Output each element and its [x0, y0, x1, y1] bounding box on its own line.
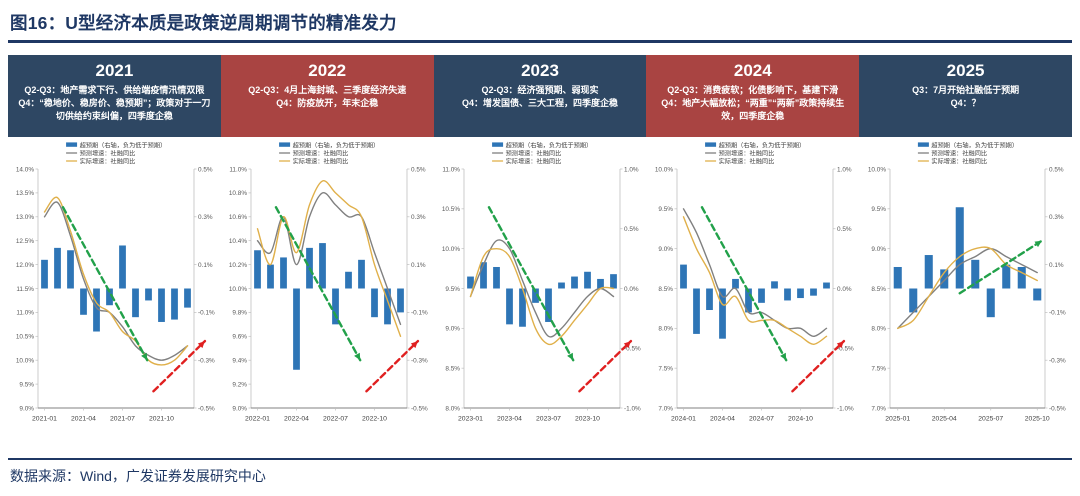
x-axis-label: 2021-01 [32, 416, 57, 423]
bar [584, 272, 591, 289]
y-axis-label: 10.8% [229, 190, 247, 197]
y-axis-label: 13.0% [16, 214, 34, 221]
bar [558, 283, 565, 289]
bar [145, 289, 152, 301]
year-panel-2021: 2021 Q2-Q3：地产需求下行、供给端疫情汛情双限 Q4：“稳地价、稳房价、… [8, 55, 221, 137]
chart-2023: 超预期（右轴，负为低于预期）预测增速：社融同比实际增速：社融同比11.0%10.… [434, 139, 647, 444]
forecast-line [684, 209, 827, 336]
trend-arrow-up [792, 341, 843, 391]
chart-2021: 超预期（右轴，负为低于预期）预测增速：社融同比实际增速：社融同比14.0%13.… [8, 139, 221, 444]
y-axis-label: 9.2% [232, 381, 247, 388]
year-note-2: Q4：防疫放开，年末企稳 [227, 97, 428, 110]
y2-axis-label: -0.5% [198, 405, 215, 412]
legend-label: 预测增速：社融同比 [293, 149, 349, 157]
bar [41, 260, 48, 289]
y-axis-label: 9.0% [871, 246, 886, 253]
y-axis-label: 10.0% [229, 286, 247, 293]
bar [345, 272, 352, 289]
y-axis-label: 10.5% [442, 206, 460, 213]
y-axis-label: 8.5% [445, 365, 460, 372]
legend-label: 超预期（右轴，负为低于预期） [719, 141, 806, 149]
legend-label: 超预期（右轴，负为低于预期） [506, 141, 593, 149]
y-axis-label: 9.0% [232, 405, 247, 412]
actual-line [684, 217, 827, 344]
trend-arrow-down-head [780, 353, 786, 361]
y2-axis-label: -0.3% [411, 358, 428, 365]
year-panel-2025: 2025 Q3：7月开始社融低于预期 Q4：？ [859, 55, 1072, 137]
bar [925, 255, 933, 288]
chart-2022: 超预期（右轴，负为低于预期）预测增速：社融同比实际增速：社融同比11.0%10.… [221, 139, 434, 444]
y2-axis-label: 0.3% [198, 214, 213, 221]
y-axis-label: 11.5% [16, 286, 34, 293]
x-axis-label: 2022-10 [362, 416, 387, 423]
y2-axis-label: -0.1% [198, 310, 215, 317]
y2-axis-label: -1.0% [837, 405, 854, 412]
bar [823, 283, 830, 289]
bar [119, 245, 126, 288]
legend-label: 超预期（右轴，负为低于预期） [80, 141, 167, 149]
trend-arrow-down [63, 207, 147, 360]
bar [358, 260, 365, 289]
y-axis-label: 10.4% [229, 238, 247, 245]
legend-label: 实际增速：社融同比 [719, 157, 775, 165]
x-axis-label: 2021-04 [71, 416, 96, 423]
forecast-line [471, 240, 614, 337]
y-axis-label: 9.5% [19, 381, 34, 388]
year-note-1: Q2-Q3：经济强预期、弱现实 [440, 84, 641, 97]
chart-row: 超预期（右轴，负为低于预期）预测增速：社融同比实际增速：社融同比14.0%13.… [8, 139, 1072, 444]
actual-line [471, 249, 614, 345]
bar [1033, 289, 1041, 301]
y2-axis-label: 0.1% [411, 262, 426, 269]
y-axis-label: 8.0% [871, 326, 886, 333]
x-axis-label: 2025-04 [932, 416, 957, 423]
year-panel-2024: 2024 Q2-Q3：消费疲软；化债影响下，基建下滑 Q4：地产大幅放松；“两重… [646, 55, 859, 137]
y2-axis-label: 0.3% [1049, 214, 1064, 221]
actual-line [258, 181, 401, 337]
legend-label: 超预期（右轴，负为低于预期） [931, 141, 1018, 149]
year-note-1: Q2-Q3：4月上海封城、三季度经济失速 [227, 84, 428, 97]
bar [54, 248, 61, 289]
y-axis-label: 10.2% [229, 262, 247, 269]
legend-label: 预测增速：社融同比 [719, 149, 775, 157]
y2-axis-label: -0.3% [198, 358, 215, 365]
year-note-1: Q3：7月开始社融低于预期 [865, 84, 1066, 97]
x-axis-label: 2025-07 [978, 416, 1003, 423]
bar [706, 289, 713, 311]
year-label: 2024 [734, 60, 772, 82]
x-axis-label: 2023-07 [536, 416, 561, 423]
legend-label: 预测增速：社融同比 [506, 149, 562, 157]
x-axis-label: 2022-04 [284, 416, 309, 423]
bar [319, 243, 326, 288]
year-note-1: Q2-Q3：地产需求下行、供给端疫情汛情双限 [14, 84, 215, 97]
y2-axis-label: 0.3% [411, 214, 426, 221]
x-axis-label: 2021-07 [110, 416, 135, 423]
year-label: 2021 [95, 60, 133, 82]
bar [80, 289, 87, 315]
trend-arrow-up [366, 341, 417, 391]
y-axis-label: 7.5% [871, 365, 886, 372]
chart-2025: 超预期（右轴，负为低于预期）预测增速：社融同比实际增速：社融同比10.0%9.5… [860, 139, 1072, 444]
y2-axis-label: 0.0% [837, 286, 852, 293]
y-axis-label: 10.0% [16, 358, 34, 365]
y-axis-label: 9.0% [445, 326, 460, 333]
bar [894, 267, 902, 289]
bar [254, 250, 261, 288]
y-axis-label: 12.0% [16, 262, 34, 269]
y2-axis-label: 0.5% [624, 226, 639, 233]
y2-axis-label: 0.0% [624, 286, 639, 293]
bar [571, 277, 578, 289]
y-axis-label: 9.4% [232, 358, 247, 365]
bar [132, 289, 139, 318]
x-axis-label: 2025-01 [885, 416, 910, 423]
x-axis-label: 2025-10 [1025, 416, 1050, 423]
bar [267, 265, 274, 289]
legend-label: 超预期（右轴，负为低于预期） [293, 141, 380, 149]
y2-axis-label: 0.5% [411, 166, 426, 173]
bar [784, 289, 791, 301]
x-axis-label: 2024-07 [749, 416, 774, 423]
title-divider [8, 40, 1072, 43]
chart-2024: 超预期（右轴，负为低于预期）预测增速：社融同比实际增速：社融同比10.0%9.5… [647, 139, 860, 444]
data-source: 数据来源：Wind，广发证券发展研究中心 [10, 466, 266, 486]
bar [810, 289, 817, 296]
footer-divider [8, 458, 1072, 460]
y-axis-label: 7.0% [658, 405, 673, 412]
trend-arrow-up [579, 341, 630, 391]
bar [493, 267, 500, 289]
y2-axis-label: 0.5% [837, 226, 852, 233]
year-label: 2025 [947, 60, 985, 82]
year-note-2: Q4：地产大幅放松；“两重”“两新”政策持续生效，四季度企稳 [652, 97, 853, 123]
trend-arrow-down-head [354, 353, 360, 361]
y2-axis-label: -0.5% [1049, 405, 1066, 412]
y-axis-label: 9.8% [232, 310, 247, 317]
x-axis-label: 2022-07 [323, 416, 348, 423]
y-axis-label: 10.0% [868, 166, 886, 173]
y-axis-label: 9.0% [658, 246, 673, 253]
figure-title-bar: 图16：U型经济本质是政策逆周期调节的精准发力 [0, 0, 1080, 44]
bar [397, 289, 404, 313]
y2-axis-label: 1.0% [837, 166, 852, 173]
x-axis-label: 2021-10 [149, 416, 174, 423]
bar [1018, 267, 1026, 289]
bar [67, 250, 74, 288]
y-axis-label: 11.0% [442, 166, 460, 173]
bar [371, 289, 378, 318]
y2-axis-label: 0.5% [198, 166, 213, 173]
y-axis-label: 7.5% [658, 365, 673, 372]
year-note-2: Q4：增发国债、三大工程，四季度企稳 [440, 97, 641, 110]
y-axis-label: 10.0% [442, 246, 460, 253]
y2-axis-label: -0.5% [411, 405, 428, 412]
legend-swatch-bar [279, 142, 290, 146]
legend-label: 实际增速：社融同比 [293, 157, 349, 165]
bar [506, 289, 513, 325]
x-axis-label: 2024-01 [671, 416, 696, 423]
bar [797, 289, 804, 299]
y-axis-label: 10.5% [16, 334, 34, 341]
y-axis-label: 13.5% [16, 190, 34, 197]
legend-label: 实际增速：社融同比 [506, 157, 562, 165]
trend-arrow-down-head [567, 353, 573, 361]
x-axis-label: 2023-01 [458, 416, 483, 423]
y-axis-label: 9.5% [658, 206, 673, 213]
y-axis-label: 8.0% [445, 405, 460, 412]
bar [610, 274, 617, 288]
bar [293, 289, 300, 370]
legend-swatch-bar [492, 142, 503, 146]
legend-label: 实际增速：社融同比 [80, 157, 136, 165]
y2-axis-label: -0.3% [1049, 358, 1066, 365]
y-axis-label: 14.0% [16, 166, 34, 173]
legend-label: 实际增速：社融同比 [931, 157, 987, 165]
y-axis-label: 8.5% [871, 286, 886, 293]
x-axis-label: 2023-10 [575, 416, 600, 423]
y-axis-label: 11.0% [16, 310, 34, 317]
bar [732, 279, 739, 289]
bar [956, 207, 964, 288]
bar [171, 289, 178, 320]
bar [771, 281, 778, 288]
y2-axis-label: 0.1% [198, 262, 213, 269]
year-panel-2023: 2023 Q2-Q3：经济强预期、弱现实 Q4：增发国债、三大工程，四季度企稳 [434, 55, 647, 137]
year-note-2: Q4：“稳地价、稳房价、稳预期”；政策对于一刀切供给约束纠偏，四季度企稳 [14, 97, 215, 123]
y2-axis-label: 0.5% [1049, 166, 1064, 173]
y-axis-label: 9.5% [871, 206, 886, 213]
bar [693, 289, 700, 334]
bar [680, 265, 687, 289]
legend-label: 预测增速：社融同比 [931, 149, 987, 157]
y2-axis-label: -0.1% [1049, 310, 1066, 317]
legend-swatch-bar [918, 142, 929, 146]
year-panel-2022: 2022 Q2-Q3：4月上海封城、三季度经济失速 Q4：防疫放开，年末企稳 [221, 55, 434, 137]
y-axis-label: 12.5% [16, 238, 34, 245]
x-axis-label: 2024-04 [710, 416, 735, 423]
year-panels: 2021 Q2-Q3：地产需求下行、供给端疫情汛情双限 Q4：“稳地价、稳房价、… [8, 55, 1072, 137]
year-label: 2023 [521, 60, 559, 82]
bar [987, 289, 995, 318]
bar [158, 289, 165, 322]
bar [332, 289, 339, 325]
year-note-2: Q4：？ [865, 97, 1066, 110]
y-axis-label: 10.0% [655, 166, 673, 173]
y2-axis-label: -1.0% [624, 405, 641, 412]
page-title: 图16：U型经济本质是政策逆周期调节的精准发力 [0, 10, 397, 35]
x-axis-label: 2024-10 [788, 416, 813, 423]
y-axis-label: 9.5% [445, 286, 460, 293]
x-axis-label: 2022-01 [245, 416, 270, 423]
y-axis-label: 8.5% [658, 286, 673, 293]
bar [758, 289, 765, 303]
y-axis-label: 9.0% [19, 405, 34, 412]
forecast-line [45, 202, 188, 360]
bar [1002, 265, 1010, 289]
year-label: 2022 [308, 60, 346, 82]
legend-swatch-bar [66, 142, 77, 146]
y-axis-label: 7.0% [871, 405, 886, 412]
legend-swatch-bar [705, 142, 716, 146]
x-axis-label: 2023-04 [497, 416, 522, 423]
y2-axis-label: 0.1% [1049, 262, 1064, 269]
y-axis-label: 8.0% [658, 326, 673, 333]
y-axis-label: 10.6% [229, 214, 247, 221]
y-axis-label: 11.0% [229, 166, 247, 173]
y2-axis-label: -0.1% [411, 310, 428, 317]
legend-label: 预测增速：社融同比 [80, 149, 136, 157]
y-axis-label: 9.6% [232, 334, 247, 341]
y2-axis-label: 1.0% [624, 166, 639, 173]
trend-arrow-up [153, 341, 204, 391]
bar [280, 257, 287, 288]
bar [184, 289, 191, 308]
year-note-1: Q2-Q3：消费疲软；化债影响下，基建下滑 [652, 84, 853, 97]
figure-page: 图16：U型经济本质是政策逆周期调节的精准发力 2021 Q2-Q3：地产需求下… [0, 0, 1080, 496]
